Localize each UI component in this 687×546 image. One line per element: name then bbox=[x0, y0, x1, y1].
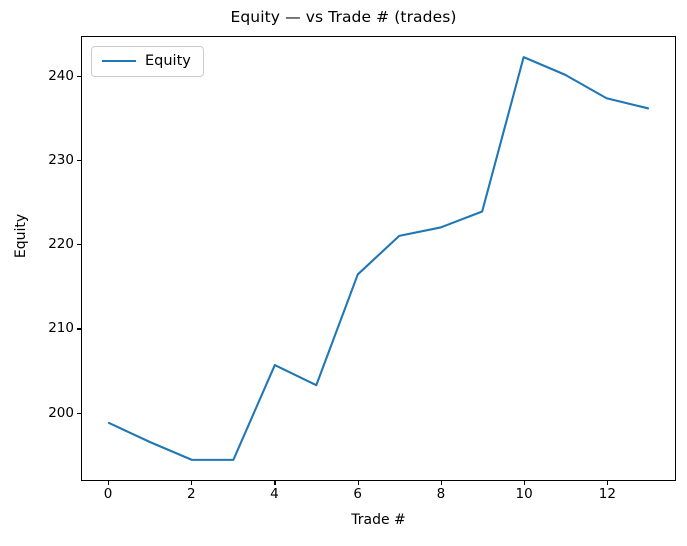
legend-label-equity: Equity bbox=[145, 54, 191, 69]
y-tick-mark bbox=[77, 244, 81, 245]
y-tick-label: 240 bbox=[0, 68, 74, 84]
y-tick-mark bbox=[77, 413, 81, 414]
x-tick-mark bbox=[108, 481, 109, 485]
x-tick-label: 8 bbox=[437, 486, 446, 502]
x-tick-mark bbox=[274, 481, 275, 485]
y-tick-label: 200 bbox=[0, 405, 74, 421]
y-tick-mark bbox=[77, 328, 81, 329]
x-tick-mark bbox=[441, 481, 442, 485]
x-tick-mark bbox=[607, 481, 608, 485]
x-tick-label: 10 bbox=[516, 486, 533, 502]
x-tick-mark bbox=[358, 481, 359, 485]
plot-axes bbox=[81, 36, 676, 481]
y-tick-mark bbox=[77, 76, 81, 77]
x-tick-mark bbox=[191, 481, 192, 485]
chart-legend[interactable]: Equity bbox=[91, 46, 204, 77]
legend-line-swatch-equity bbox=[102, 60, 136, 62]
x-tick-label: 6 bbox=[353, 486, 362, 502]
equity-line-chart-svg bbox=[82, 37, 675, 480]
y-axis-label: Equity bbox=[13, 156, 29, 316]
matplotlib-figure: Equity — vs Trade # (trades) 20021022023… bbox=[0, 0, 687, 546]
y-tick-label: 210 bbox=[0, 320, 74, 336]
x-tick-label: 2 bbox=[187, 486, 196, 502]
x-axis-label: Trade # bbox=[81, 512, 676, 528]
y-tick-label: 230 bbox=[0, 152, 74, 168]
y-tick-mark bbox=[77, 160, 81, 161]
chart-title: Equity — vs Trade # (trades) bbox=[0, 8, 687, 26]
x-tick-label: 4 bbox=[270, 486, 279, 502]
equity-series-line bbox=[109, 57, 648, 460]
x-tick-label: 12 bbox=[599, 486, 616, 502]
x-tick-mark bbox=[524, 481, 525, 485]
y-tick-label: 220 bbox=[0, 236, 74, 252]
x-tick-label: 0 bbox=[104, 486, 113, 502]
